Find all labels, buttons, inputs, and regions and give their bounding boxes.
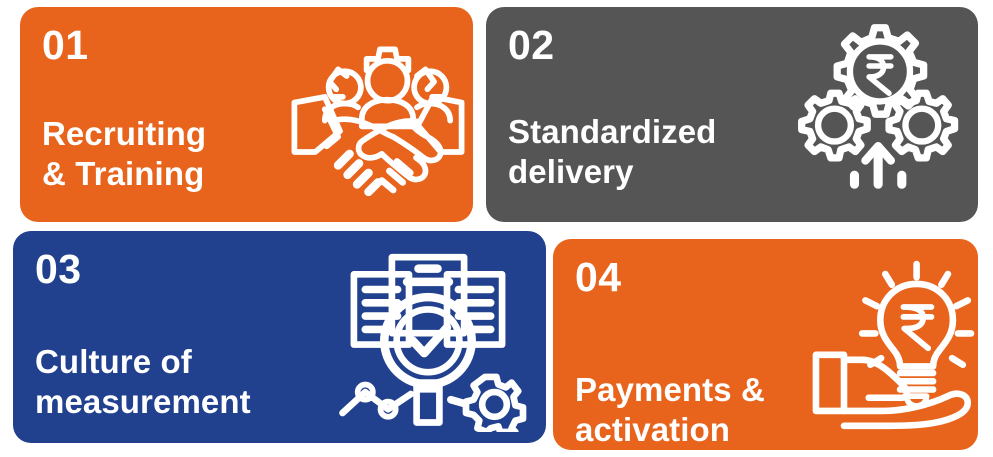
card-payments-activation[interactable]: 04 Payments & activation (553, 239, 978, 450)
card-text-block: 02 Standardized delivery (486, 7, 786, 222)
handshake-team-gear-icon (282, 19, 473, 209)
card-title: Recruiting & Training (42, 114, 282, 195)
card-number: 03 (35, 249, 343, 290)
card-title: Culture of measurement (35, 342, 343, 423)
card-title: Standardized delivery (508, 112, 786, 193)
card-number: 01 (42, 25, 282, 66)
card-text-block: 04 Payments & activation (553, 239, 823, 450)
magnifier-checklist-analytics-icon (329, 242, 527, 432)
hand-lightbulb-rupee-icon (811, 249, 976, 431)
card-text-block: 03 Culture of measurement (13, 231, 343, 443)
card-number: 04 (575, 257, 823, 298)
card-standardized-delivery[interactable]: 02 Standardized delivery (486, 7, 978, 222)
card-text-block: 01 Recruiting & Training (20, 7, 282, 222)
cards-canvas: 01 Recruiting & Training (0, 0, 993, 457)
card-number: 02 (508, 25, 786, 66)
gears-rupee-coin-icon (782, 15, 967, 197)
card-title: Payments & activation (575, 370, 823, 450)
card-recruiting-training[interactable]: 01 Recruiting & Training (20, 7, 473, 222)
card-culture-of-measurement[interactable]: 03 Culture of measurement (13, 231, 546, 443)
